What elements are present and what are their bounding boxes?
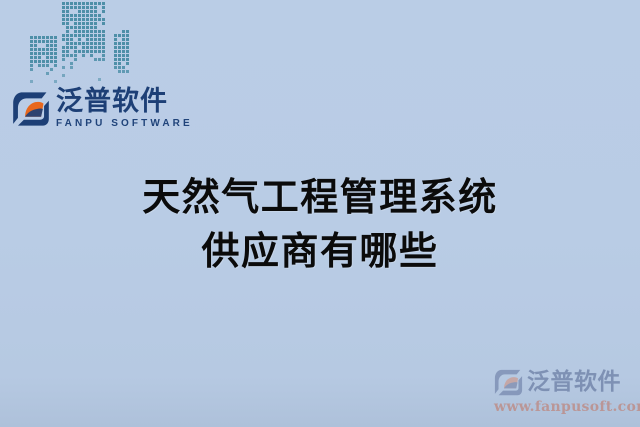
logo-name-en: FANPU SOFTWARE [56,119,193,129]
watermark-url: www.fanpusoft.com [494,399,634,415]
page-title-line-1: 天然气工程管理系统 [0,170,640,224]
fanpu-watermark-mark [494,368,523,397]
fanpu-watermark: 泛普软件 www.fanpusoft.com [494,368,634,415]
page-title: 天然气工程管理系统 供应商有哪些 [0,170,640,278]
fanpu-logo-mark [12,90,50,128]
page-title-line-2: 供应商有哪些 [0,224,640,278]
banner-canvas: 泛普软件 FANPU SOFTWARE 天然气工程管理系统 供应商有哪些 泛普软… [0,0,640,427]
watermark-name-cn: 泛普软件 [527,371,621,394]
watermark-logo-row: 泛普软件 [494,368,634,397]
fanpu-logo: 泛普软件 FANPU SOFTWARE [12,88,193,129]
logo-name-cn: 泛普软件 [56,88,193,116]
pixel-buildings-graphic [30,0,130,84]
